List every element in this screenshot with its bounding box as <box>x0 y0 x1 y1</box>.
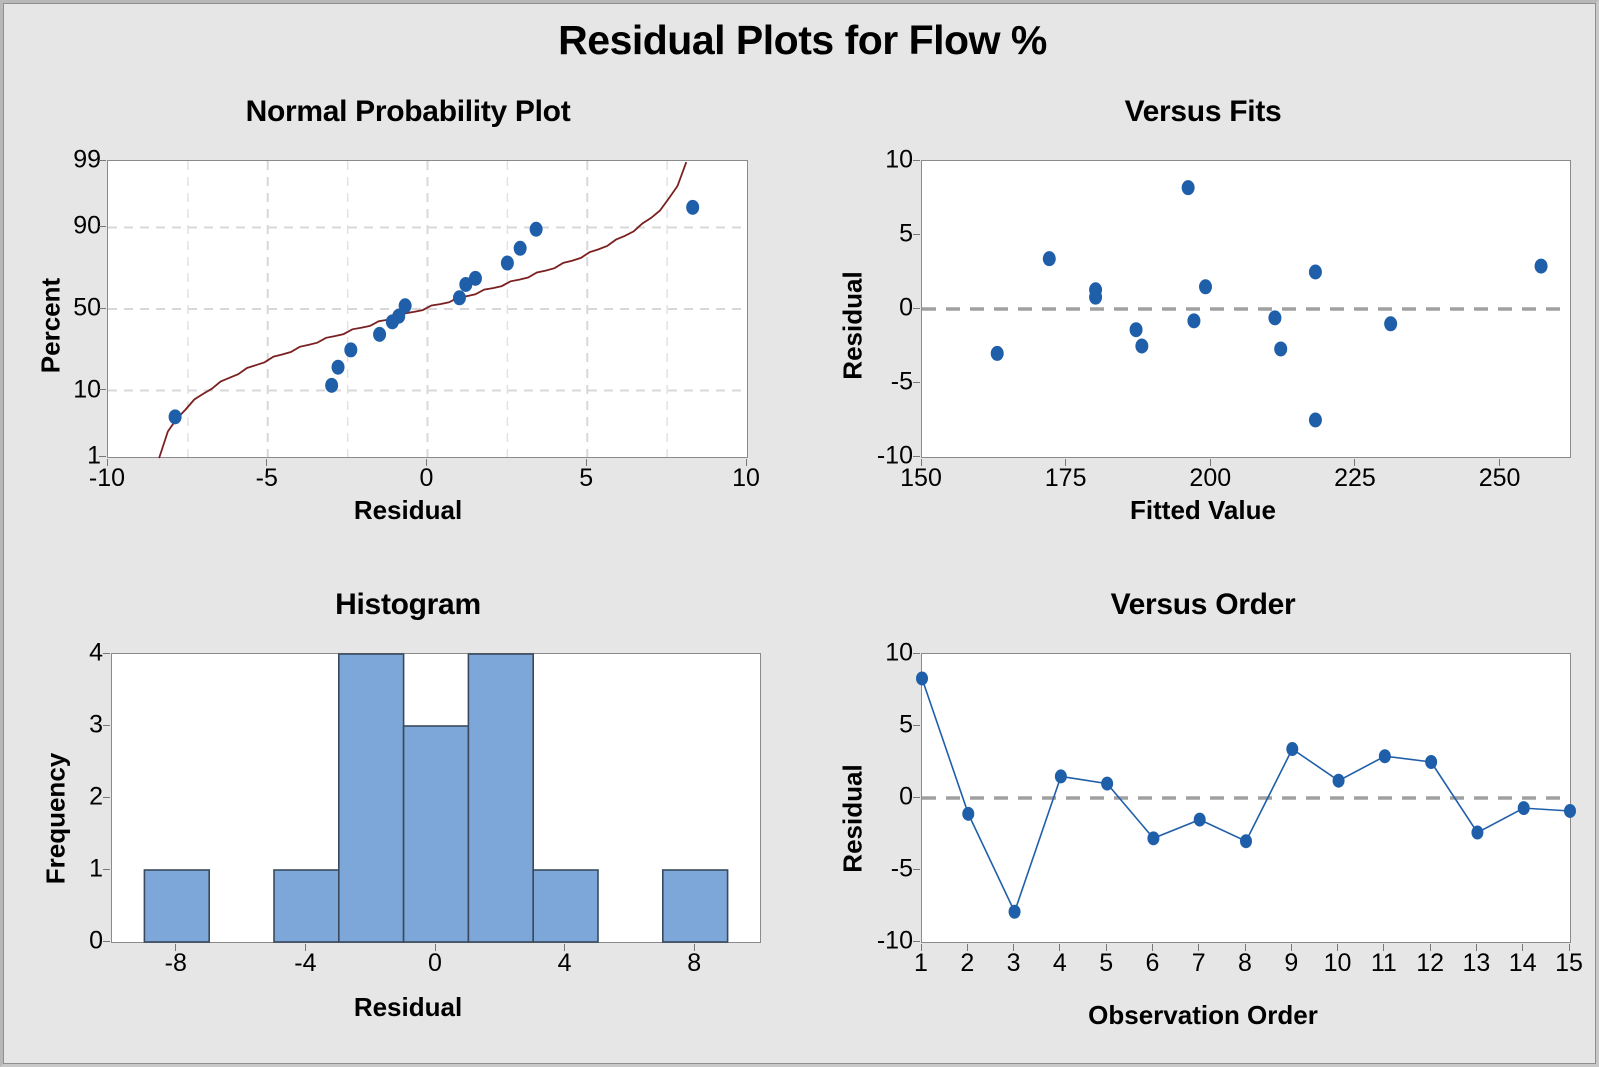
hist-y-tick-mark <box>103 725 110 726</box>
hist-y-tick-label: 1 <box>13 855 103 884</box>
vf-y-tick-label: -5 <box>813 368 913 397</box>
versus-order-plot-area <box>921 653 1571 943</box>
histogram-bar <box>144 870 209 942</box>
vo-x-tick-mark <box>1430 944 1431 951</box>
vf-x-tick-mark <box>1065 459 1066 466</box>
vo-x-tick-mark <box>1106 944 1107 951</box>
vo-x-tick-mark <box>1198 944 1199 951</box>
hist-x-tick-mark <box>564 944 565 951</box>
normal-probability-plot-point <box>325 378 338 393</box>
histogram-ylabel: Frequency <box>41 724 72 914</box>
vo-x-tick-mark <box>1152 944 1153 951</box>
normal-probability-plot-area <box>107 160 748 458</box>
vf-y-tick-mark <box>913 160 920 161</box>
histogram-bar <box>404 726 469 942</box>
vf-x-tick-mark <box>921 459 922 466</box>
normal-probability-plot-point <box>530 222 543 237</box>
vf-y-tick-mark <box>913 382 920 383</box>
normal-probability-plot-point <box>169 409 182 424</box>
npp-x-tick-label: -5 <box>232 464 302 493</box>
panel-normal-probability-plot: Normal Probability Plot Percent Residual… <box>13 95 803 545</box>
versus-fits-plot-area <box>921 160 1571 458</box>
normal-probability-plot-point <box>501 256 514 271</box>
npp-y-tick-mark <box>99 226 106 227</box>
versus-fits-point <box>1274 341 1287 356</box>
hist-y-tick-label: 0 <box>13 927 103 956</box>
page-title: Residual Plots for Flow % <box>3 17 1599 64</box>
npp-y-tick-mark <box>99 308 106 309</box>
versus-fits-point <box>991 346 1004 361</box>
histogram-bar <box>468 654 533 942</box>
hist-x-tick-label: -4 <box>270 949 340 978</box>
versus-fits-xlabel: Fitted Value <box>813 495 1593 526</box>
vf-x-tick-label: 200 <box>1175 464 1245 493</box>
hist-y-tick-mark <box>103 941 110 942</box>
normal-probability-plot-title: Normal Probability Plot <box>13 95 803 129</box>
vf-y-tick-mark <box>913 308 920 309</box>
versus-fits-point <box>1535 259 1548 274</box>
vf-y-tick-label: 0 <box>813 294 913 323</box>
versus-order-point <box>1425 755 1437 769</box>
hist-y-tick-label: 4 <box>13 639 103 668</box>
npp-y-tick-label: 90 <box>13 212 101 241</box>
histogram-xlabel: Residual <box>13 992 803 1023</box>
hist-x-tick-label: 4 <box>530 949 600 978</box>
versus-order-point <box>1379 749 1391 763</box>
histogram-plot-area <box>111 653 761 943</box>
versus-fits-point <box>1384 316 1397 331</box>
versus-fits-point <box>1268 310 1281 325</box>
histogram-bar <box>533 870 598 942</box>
npp-y-tick-label: 99 <box>13 146 101 175</box>
versus-order-point <box>1333 774 1345 788</box>
vo-x-tick-mark <box>1337 944 1338 951</box>
hist-y-tick-label: 2 <box>13 783 103 812</box>
npp-y-tick-mark <box>99 456 106 457</box>
vf-y-tick-mark <box>913 234 920 235</box>
vo-x-tick-mark <box>1569 944 1570 951</box>
hist-y-tick-mark <box>103 869 110 870</box>
versus-fits-point <box>1199 279 1212 294</box>
vo-x-tick-mark <box>1013 944 1014 951</box>
vo-x-tick-mark <box>921 944 922 951</box>
hist-y-tick-mark <box>103 653 110 654</box>
vf-x-tick-label: 150 <box>886 464 956 493</box>
normal-probability-plot-point <box>469 271 482 286</box>
versus-fits-point <box>1135 339 1148 354</box>
normal-probability-plot-xlabel: Residual <box>13 495 803 526</box>
npp-y-tick-mark <box>99 160 106 161</box>
npp-x-tick-label: -10 <box>72 464 142 493</box>
vo-y-tick-label: -5 <box>813 855 913 884</box>
vo-x-tick-mark <box>1291 944 1292 951</box>
versus-fits-point <box>1309 265 1322 280</box>
vf-x-tick-label: 250 <box>1465 464 1535 493</box>
versus-fits-point <box>1130 322 1143 337</box>
versus-order-point <box>1147 831 1159 845</box>
versus-fits-point <box>1182 180 1195 195</box>
residual-plots-figure: Residual Plots for Flow % Normal Probabi… <box>0 0 1599 1067</box>
versus-order-point <box>962 807 974 821</box>
normal-probability-plot-point <box>399 298 412 313</box>
npp-y-tick-label: 50 <box>13 294 101 323</box>
histogram-title: Histogram <box>13 588 803 622</box>
hist-x-tick-label: 0 <box>400 949 470 978</box>
histogram-bar <box>663 870 728 942</box>
hist-x-tick-mark <box>305 944 306 951</box>
vo-y-tick-mark <box>913 725 920 726</box>
histogram-bar <box>274 870 339 942</box>
vo-x-tick-mark <box>1245 944 1246 951</box>
versus-order-point <box>1194 813 1206 827</box>
versus-order-point <box>1009 905 1021 919</box>
hist-x-tick-mark <box>435 944 436 951</box>
hist-x-tick-mark <box>694 944 695 951</box>
normal-probability-plot-point <box>453 290 466 305</box>
versus-order-point <box>1471 826 1483 840</box>
panel-histogram: Histogram Frequency Residual 01234 -8-40… <box>13 588 803 1048</box>
hist-x-tick-label: 8 <box>659 949 729 978</box>
vo-y-tick-label: 10 <box>813 639 913 668</box>
vo-y-tick-label: 5 <box>813 711 913 740</box>
npp-y-tick-label: 10 <box>13 375 101 404</box>
versus-fits-title: Versus Fits <box>813 95 1593 129</box>
versus-fits-point <box>1309 413 1322 428</box>
npp-y-tick-mark <box>99 389 106 390</box>
versus-order-point <box>1055 769 1067 783</box>
versus-order-point <box>916 671 928 685</box>
npp-x-tick-label: 10 <box>711 464 781 493</box>
normal-probability-plot-point <box>373 327 386 342</box>
vf-x-tick-mark <box>1499 459 1500 466</box>
versus-order-title: Versus Order <box>813 588 1593 622</box>
hist-x-tick-mark <box>175 944 176 951</box>
vf-x-tick-mark <box>1210 459 1211 466</box>
npp-x-tick-mark <box>266 459 267 466</box>
vo-x-tick-mark <box>1059 944 1060 951</box>
versus-order-line <box>922 679 1570 912</box>
versus-order-point <box>1240 834 1252 848</box>
versus-order-point <box>1286 742 1298 756</box>
normal-probability-plot-point <box>686 200 699 215</box>
vf-x-tick-mark <box>1354 459 1355 466</box>
vo-y-tick-mark <box>913 653 920 654</box>
npp-x-tick-mark <box>107 459 108 466</box>
hist-y-tick-mark <box>103 797 110 798</box>
panel-versus-order: Versus Order Residual Observation Order … <box>813 588 1593 1048</box>
versus-order-point <box>1564 804 1576 818</box>
vo-x-tick-mark <box>1476 944 1477 951</box>
vf-y-tick-label: 5 <box>813 220 913 249</box>
npp-x-tick-label: 0 <box>392 464 462 493</box>
vo-x-tick-label: 15 <box>1534 949 1599 978</box>
hist-y-tick-label: 3 <box>13 711 103 740</box>
npp-x-tick-mark <box>426 459 427 466</box>
vf-x-tick-label: 225 <box>1320 464 1390 493</box>
npp-x-tick-label: 5 <box>551 464 621 493</box>
vo-x-tick-mark <box>967 944 968 951</box>
vf-y-tick-mark <box>913 456 920 457</box>
histogram-bar <box>339 654 404 942</box>
vf-x-tick-label: 175 <box>1031 464 1101 493</box>
vo-y-tick-mark <box>913 941 920 942</box>
vf-y-tick-label: 10 <box>813 146 913 175</box>
vo-x-tick-mark <box>1383 944 1384 951</box>
vo-y-tick-mark <box>913 869 920 870</box>
versus-fits-point <box>1187 313 1200 328</box>
normal-probability-plot-point <box>514 241 527 256</box>
vo-y-tick-mark <box>913 797 920 798</box>
versus-order-point <box>1518 801 1530 815</box>
versus-order-point <box>1101 777 1113 791</box>
npp-x-tick-mark <box>746 459 747 466</box>
vo-x-tick-mark <box>1522 944 1523 951</box>
normal-probability-plot-point <box>332 360 345 375</box>
npp-x-tick-mark <box>586 459 587 466</box>
hist-x-tick-label: -8 <box>141 949 211 978</box>
versus-fits-point <box>1043 251 1056 266</box>
versus-fits-point <box>1089 290 1102 305</box>
versus-order-xlabel: Observation Order <box>813 1000 1593 1031</box>
vo-y-tick-label: 0 <box>813 783 913 812</box>
panel-versus-fits: Versus Fits Residual Fitted Value -10-50… <box>813 95 1593 545</box>
normal-probability-plot-point <box>344 342 357 357</box>
